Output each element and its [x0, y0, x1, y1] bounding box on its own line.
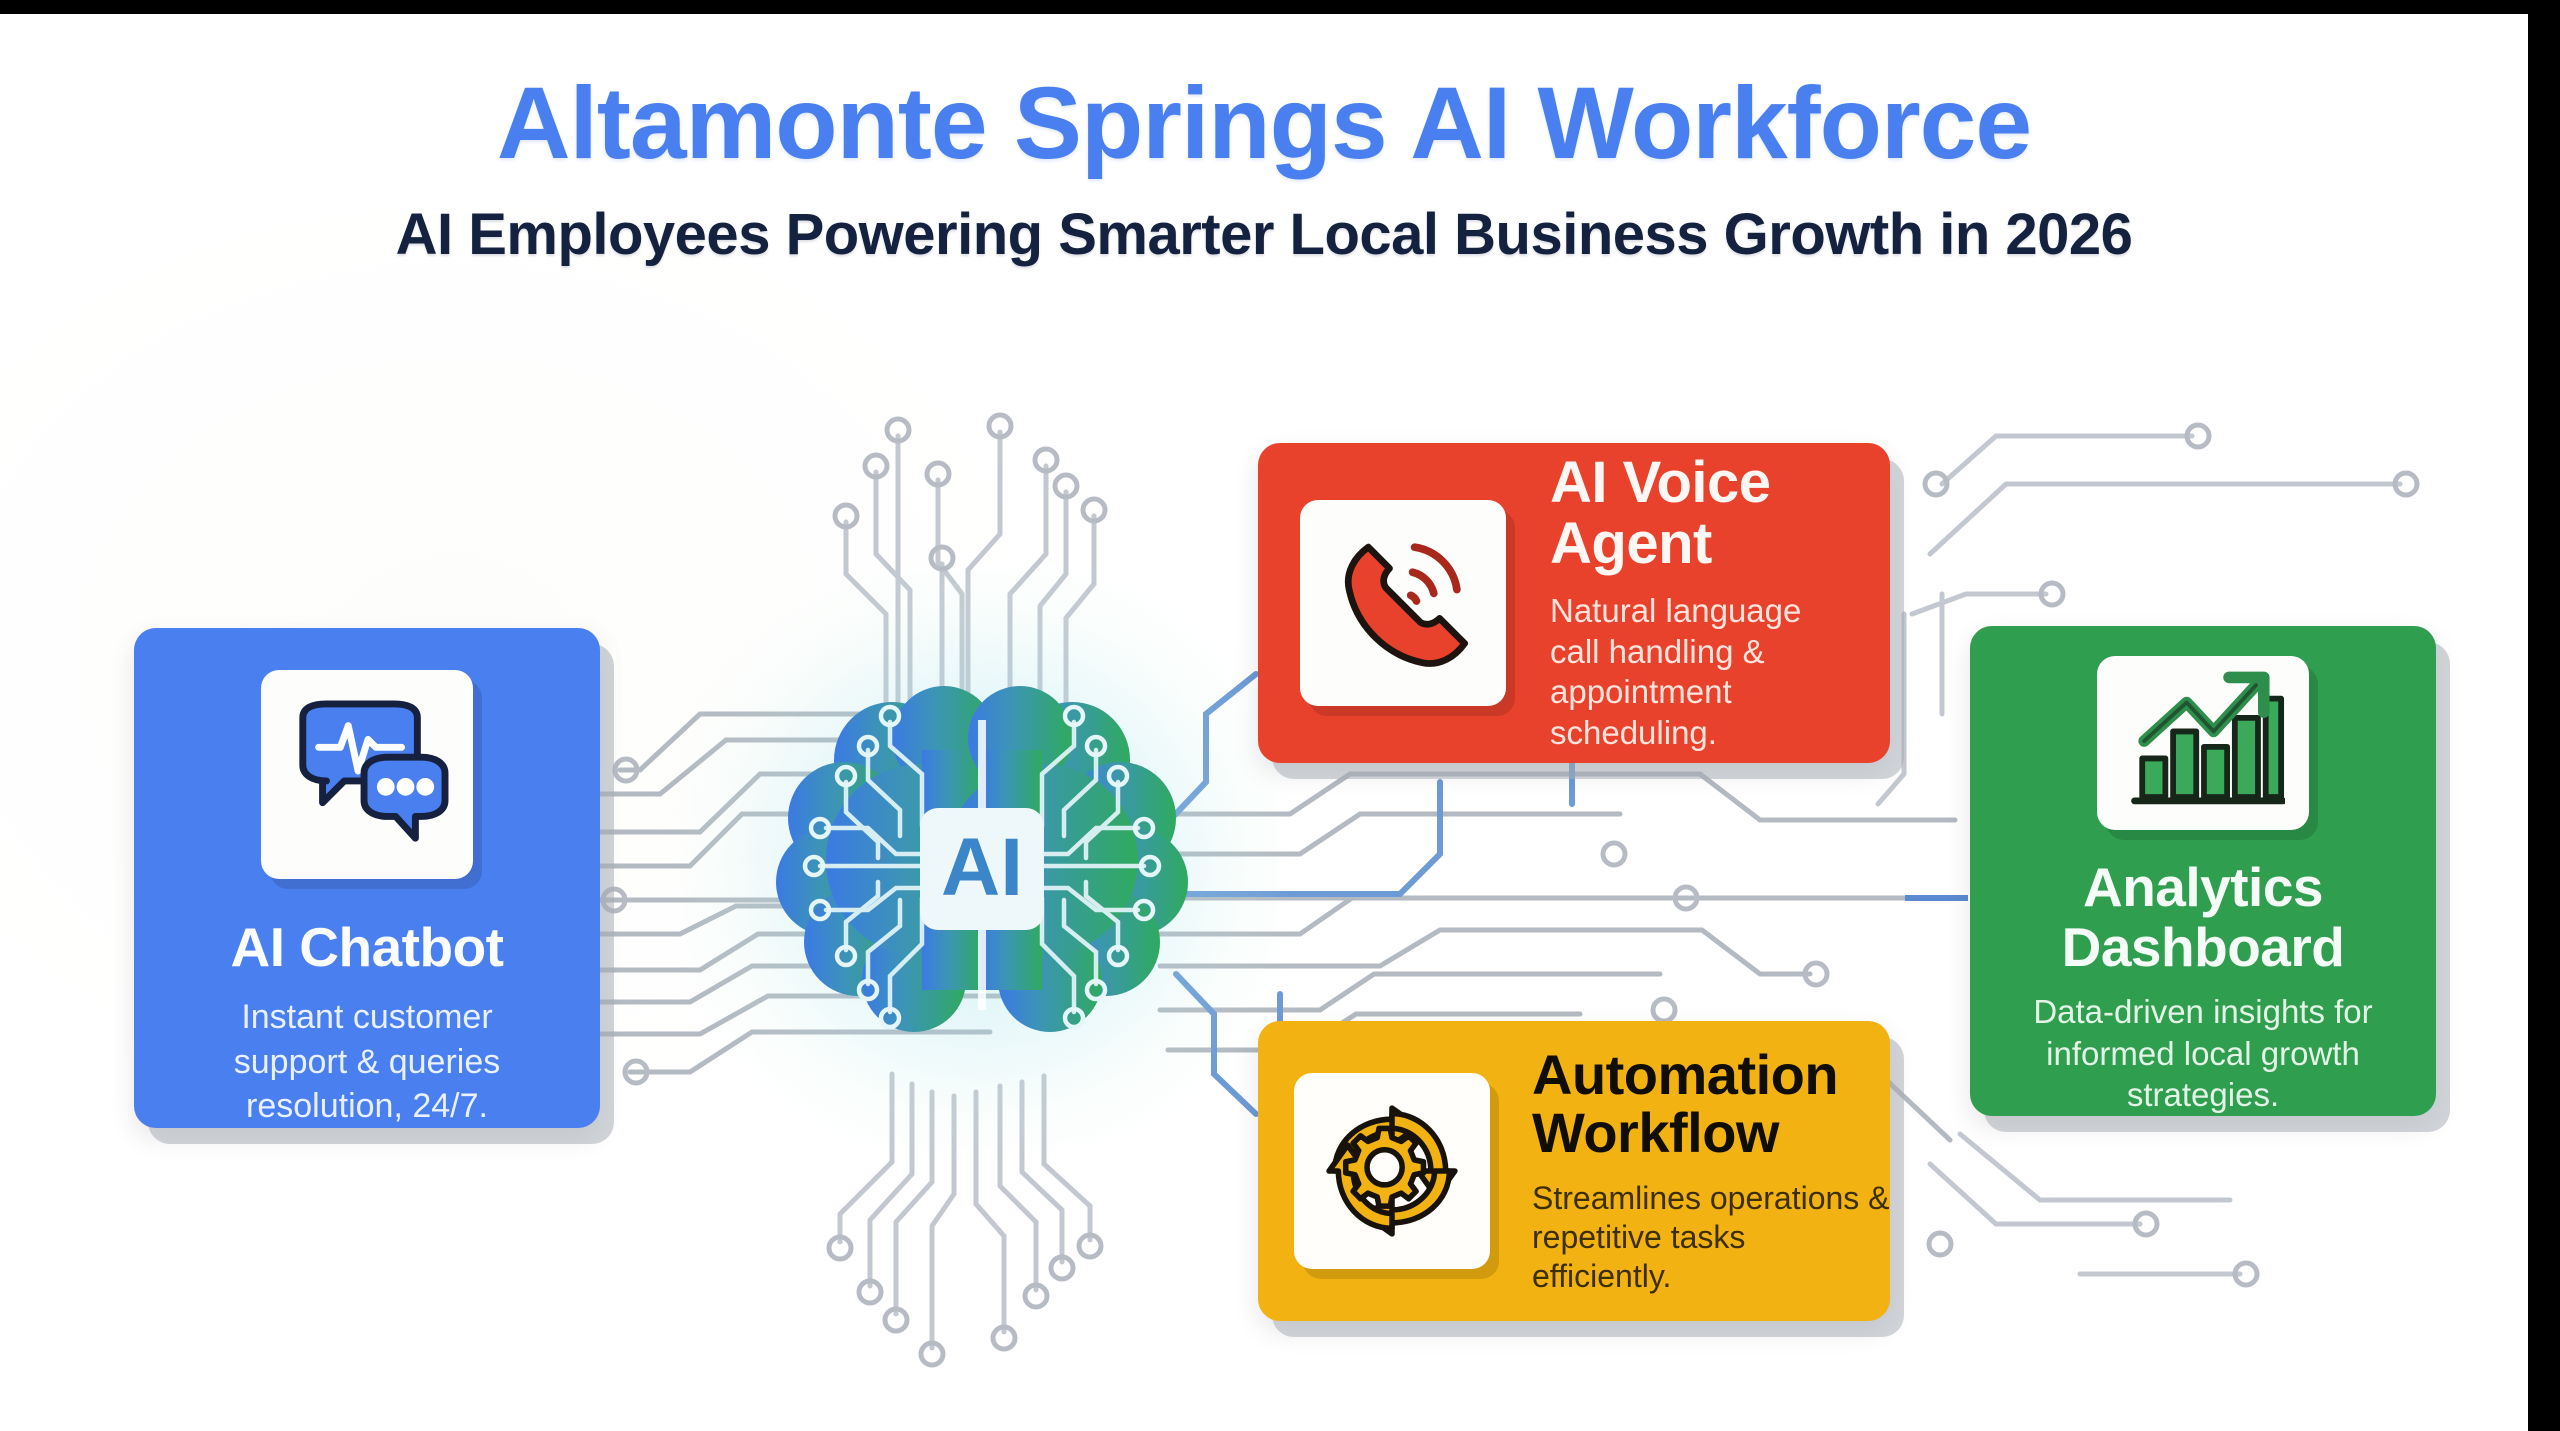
- ai-brain-hub[interactable]: AI: [772, 650, 1192, 1070]
- phone-handset-soundwaves-icon: [1300, 500, 1506, 706]
- circuit-node: [1653, 999, 1675, 1021]
- letterbox-top: [0, 0, 2560, 14]
- card-analytics-dashboard[interactable]: Analytics Dashboard Data-driven insights…: [1970, 626, 2436, 1116]
- card-description: Data-driven insights for informed local …: [2018, 991, 2388, 1116]
- letterbox-right: [2528, 0, 2560, 1431]
- card-ai-voice-agent[interactable]: AI Voice Agent Natural language call han…: [1258, 443, 1890, 763]
- bar-chart-growth-arrow-icon: [2097, 656, 2309, 830]
- card-text-block: AI Voice Agent Natural language call han…: [1550, 452, 1890, 755]
- card-title: AI Chatbot: [230, 915, 503, 979]
- page-subtitle: AI Employees Powering Smarter Local Busi…: [0, 203, 2528, 267]
- card-ai-chatbot[interactable]: AI Chatbot Instant customer support & qu…: [134, 628, 600, 1128]
- card-title: Automation Workflow: [1532, 1046, 1882, 1164]
- page-title: Altamonte Springs AI Workforce: [0, 70, 2528, 177]
- infographic-stage: Altamonte Springs AI Workforce AI Employ…: [0, 0, 2560, 1431]
- circuit-bottom-fan: [840, 1074, 1090, 1348]
- hub-label: AI: [941, 822, 1023, 913]
- circuit-node: [1603, 843, 1625, 865]
- card-title: AI Voice Agent: [1550, 452, 1860, 575]
- header: Altamonte Springs AI Workforce AI Employ…: [0, 70, 2528, 267]
- card-title: Analytics Dashboard: [1970, 858, 2436, 977]
- circuit-lower-right: [1930, 1134, 2240, 1274]
- card-description: Streamlines operations & repetitive task…: [1532, 1179, 1890, 1296]
- circuit-node: [1929, 1233, 1951, 1255]
- chat-bubbles-waveform-icon: [261, 670, 473, 879]
- card-text-block: Automation Workflow Streamlines operatio…: [1532, 1046, 1890, 1297]
- card-description: Instant customer support & queries resol…: [202, 995, 532, 1128]
- gear-cycle-arrows-icon: [1294, 1073, 1490, 1269]
- card-description: Natural language call handling & appoint…: [1550, 591, 1860, 755]
- card-automation-workflow[interactable]: Automation Workflow Streamlines operatio…: [1258, 1021, 1890, 1321]
- circuit-brain-icon: AI: [772, 650, 1192, 1070]
